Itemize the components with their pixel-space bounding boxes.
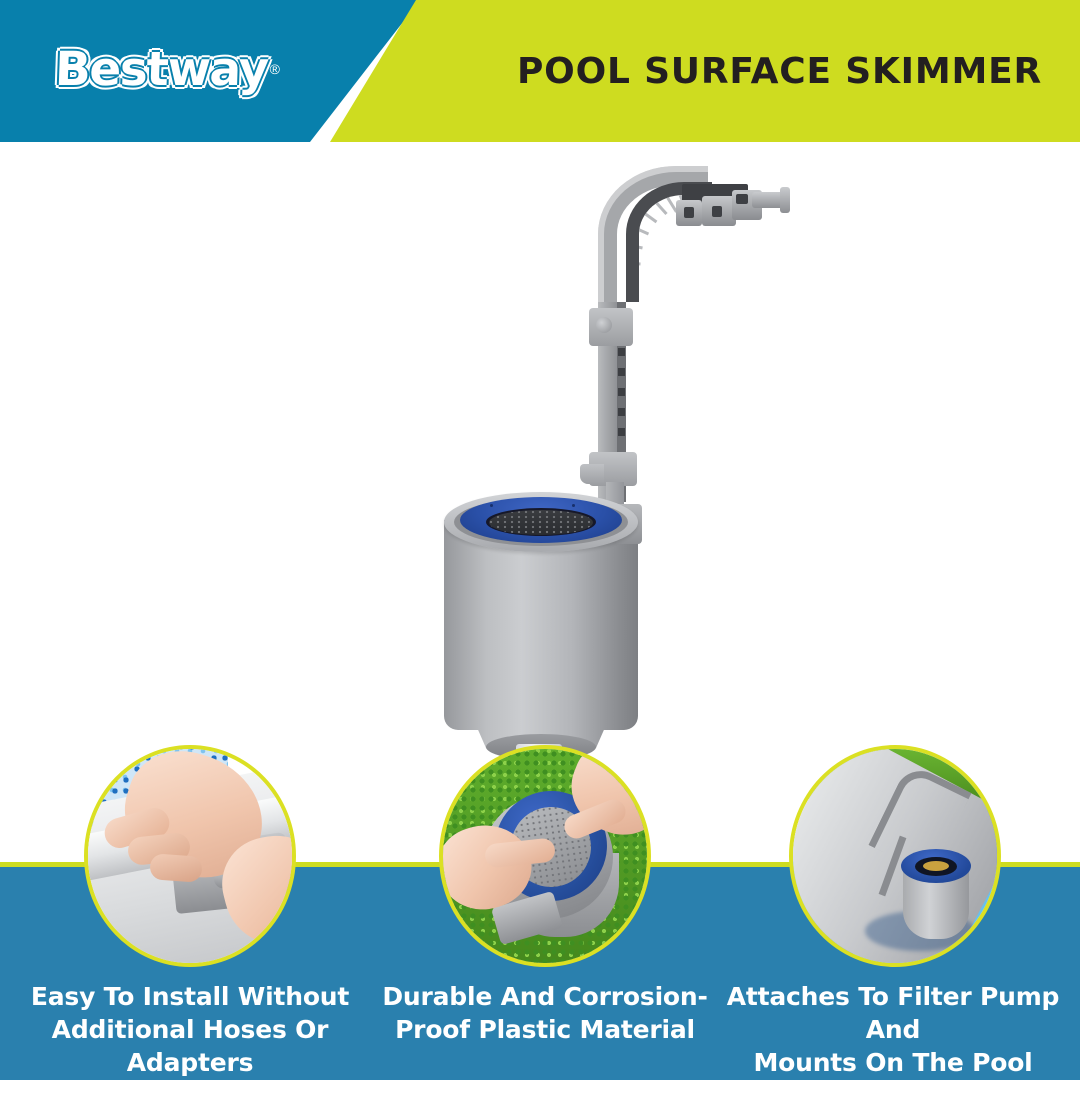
skimmer-product-illustration bbox=[420, 152, 840, 772]
feature-image-install bbox=[84, 745, 296, 967]
collected-debris bbox=[923, 861, 949, 871]
bracket-tighten-knob bbox=[752, 192, 786, 208]
caption-line-2: Additional Hoses Or Adapters bbox=[20, 1013, 360, 1079]
brand-logo-text: Bestway bbox=[54, 42, 269, 97]
adjust-notch bbox=[618, 428, 625, 436]
feature-caption-material: Durable And Corrosion- Proof Plastic Mat… bbox=[375, 980, 715, 1046]
registered-trademark-icon: ® bbox=[270, 61, 280, 77]
caption-line-1: Attaches To Filter Pump And bbox=[723, 980, 1063, 1046]
feature-image-mounting bbox=[789, 745, 1001, 967]
caption-line-1: Easy To Install Without bbox=[20, 980, 360, 1013]
feature-caption-mounting: Attaches To Filter Pump And Mounts On Th… bbox=[723, 980, 1063, 1112]
adjust-notch bbox=[618, 348, 625, 356]
header-banner: Bestway ® POOL SURFACE SKIMMER bbox=[0, 0, 1080, 142]
mesh-basket bbox=[489, 510, 593, 535]
adjust-notch bbox=[618, 408, 625, 416]
brand-logo: Bestway ® bbox=[55, 38, 285, 100]
page-title: POOL SURFACE SKIMMER bbox=[517, 0, 1042, 142]
height-adjust-collar bbox=[589, 308, 633, 346]
collar-release-tab bbox=[580, 464, 604, 484]
feature-caption-install: Easy To Install Without Additional Hoses… bbox=[20, 980, 360, 1079]
caption-line-2: Mounts On The Pool Wall bbox=[723, 1046, 1063, 1112]
caption-line-2: Proof Plastic Material bbox=[375, 1013, 715, 1046]
adjust-notch bbox=[618, 368, 625, 376]
caption-line-1: Durable And Corrosion- bbox=[375, 980, 715, 1013]
adjust-notch bbox=[618, 388, 625, 396]
wall-bracket-clamp bbox=[676, 182, 786, 238]
feature-image-material bbox=[439, 745, 651, 967]
